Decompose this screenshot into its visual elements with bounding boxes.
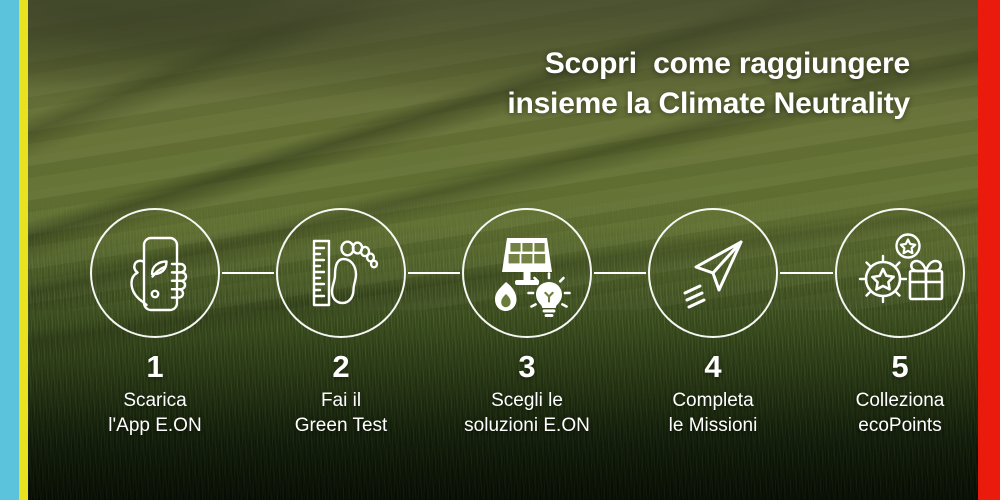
brand-stripe-cyan <box>0 0 19 500</box>
step-label-3: Scegli le soluzioni E.ON <box>442 388 612 438</box>
step-item-5[interactable]: 5 Colleziona ecoPoints <box>815 208 985 438</box>
step-label-2: Fai il Green Test <box>256 388 426 438</box>
step-item-2[interactable]: 2 Fai il Green Test <box>256 208 426 438</box>
star-gift-icon <box>854 227 946 319</box>
step-label-1: Scarica l'App E.ON <box>70 388 240 438</box>
step-circle-4 <box>648 208 778 338</box>
step-item-1[interactable]: 1 Scarica l'App E.ON <box>70 208 240 438</box>
promo-banner: Scopri come raggiungere insieme la Clima… <box>0 0 1000 500</box>
step-circle-1 <box>90 208 220 338</box>
solar-flame-bulb-icon <box>482 228 572 318</box>
step-circle-2 <box>276 208 406 338</box>
paper-plane-icon <box>670 230 756 316</box>
step-item-4[interactable]: 4 Completa le Missioni <box>628 208 798 438</box>
brand-stripe-yellow <box>19 0 28 500</box>
step-number-5: 5 <box>815 351 985 383</box>
steps-strip: 1 Scarica l'App E.ON <box>28 0 978 500</box>
phone-leaf-icon <box>112 230 198 316</box>
step-label-5: Colleziona ecoPoints <box>815 388 985 438</box>
step-circle-3 <box>462 208 592 338</box>
step-number-1: 1 <box>70 351 240 383</box>
step-circle-5 <box>835 208 965 338</box>
step-item-3[interactable]: 3 Scegli le soluzioni E.ON <box>442 208 612 438</box>
step-number-4: 4 <box>628 351 798 383</box>
step-number-3: 3 <box>442 351 612 383</box>
step-label-4: Completa le Missioni <box>628 388 798 438</box>
step-number-2: 2 <box>256 351 426 383</box>
footprint-ruler-icon <box>297 229 385 317</box>
